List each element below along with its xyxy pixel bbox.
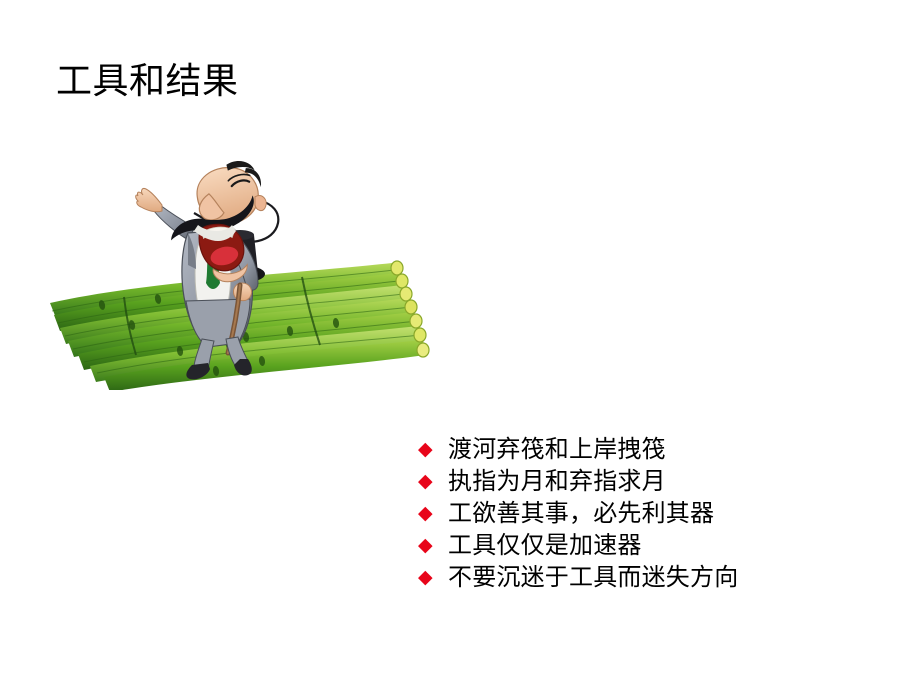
page-title: 工具和结果 (56, 58, 239, 104)
cartoon-man-on-bamboo-raft-image (40, 155, 430, 390)
diamond-bullet-icon: ◆ (418, 562, 448, 594)
bullet-list: ◆ 渡河弃筏和上岸拽筏 ◆ 执指为月和弃指求月 ◆ 工欲善其事，必先利其器 ◆ … (418, 434, 848, 594)
left-arm (136, 188, 194, 241)
list-item-label: 渡河弃筏和上岸拽筏 (448, 434, 666, 466)
list-item: ◆ 渡河弃筏和上岸拽筏 (418, 434, 848, 466)
list-item-label: 不要沉迷于工具而迷失方向 (448, 562, 738, 594)
diamond-bullet-icon: ◆ (418, 498, 448, 530)
list-item-label: 执指为月和弃指求月 (448, 466, 666, 498)
raft-illustration-svg (40, 155, 430, 390)
presentation-slide: 工具和结果 (0, 0, 900, 675)
list-item-label: 工欲善其事，必先利其器 (448, 498, 714, 530)
list-item: ◆ 执指为月和弃指求月 (418, 466, 848, 498)
list-item: ◆ 不要沉迷于工具而迷失方向 (418, 562, 848, 594)
diamond-bullet-icon: ◆ (418, 434, 448, 466)
left-hand (136, 188, 162, 211)
list-item-label: 工具仅仅是加速器 (448, 530, 642, 562)
diamond-bullet-icon: ◆ (418, 466, 448, 498)
list-item: ◆ 工具仅仅是加速器 (418, 530, 848, 562)
diamond-bullet-icon: ◆ (418, 530, 448, 562)
list-item: ◆ 工欲善其事，必先利其器 (418, 498, 848, 530)
